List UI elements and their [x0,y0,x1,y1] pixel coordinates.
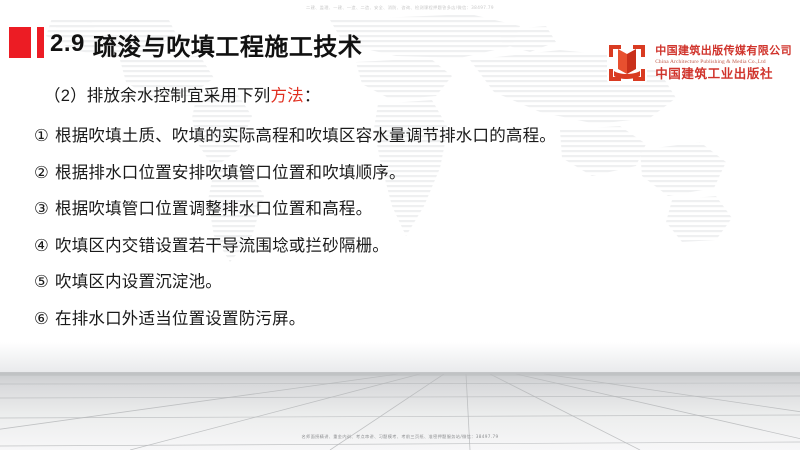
list-item-marker: ⑥ [34,310,49,328]
section-number: 2.9 [50,30,85,58]
list-item-text: 根据排水口位置安排吹填管口位置和吹填顺序。 [55,164,406,182]
list-item: ②根据排水口位置安排吹填管口位置和吹填顺序。 [34,155,774,192]
list-item-marker: ⑤ [34,273,49,291]
publisher-company-en: China Architecture Publishing & Media Co… [655,58,792,66]
open-book-building-icon [606,42,648,84]
lead-paragraph: （2）排放余水控制宜采用下列方法： [44,82,321,106]
title-accent-bars [9,27,44,58]
list-item-marker: ③ [34,200,49,218]
list-item-text: 吹填区内设置沉淀池。 [55,273,222,291]
lead-prefix: （2）排放余水控制宜采用下列 [44,87,270,105]
lead-suffix: ： [304,87,321,105]
bottom-watermark-text: 名师面授精讲、重金内训、考点串讲、习题模考、考前三页纸、准密押题服务站/微信：3… [0,433,800,441]
slide-canvas: 二建、监理、一建、一造、二造、安全、消防、咨询、检测课程押题答多店/微信：384… [0,0,800,450]
publisher-press-cn: 中国建筑工业出版社 [655,66,792,82]
slide-header: 2.9 疏浚与吹填工程施工技术 中国建筑出版传媒有限公司 China Archi [0,22,800,74]
top-watermark-text: 二建、监理、一建、一造、二造、安全、消防、咨询、检测课程押题答多店/微信：384… [0,4,800,12]
list-item-text: 根据吹填管口位置调整排水口位置和高程。 [55,200,372,218]
numbered-item-list: ①根据吹填土质、吹填的实际高程和吹填区容水量调节排水口的高程。 ②根据排水口位置… [34,118,774,337]
slide-body: （2）排放余水控制宜采用下列方法： ①根据吹填土质、吹填的实际高程和吹填区容水量… [0,82,800,342]
list-item-marker: ① [34,127,49,145]
accent-bar-wide [9,27,31,58]
list-item-marker: ④ [34,237,49,255]
section-title-text: 疏浚与吹填工程施工技术 [93,27,363,62]
publisher-company-cn: 中国建筑出版传媒有限公司 [655,45,792,58]
list-item: ⑤吹填区内设置沉淀池。 [34,264,774,301]
accent-bar-narrow [37,27,44,58]
list-item: ①根据吹填土质、吹填的实际高程和吹填区容水量调节排水口的高程。 [34,118,774,155]
publisher-logo-text: 中国建筑出版传媒有限公司 China Architecture Publishi… [655,45,792,82]
list-item: ③根据吹填管口位置调整排水口位置和高程。 [34,191,774,228]
list-item: ④吹填区内交错设置若干导流围埝或拦砂隔栅。 [34,228,774,265]
wall-gradient [0,342,800,372]
list-item-text: 根据吹填土质、吹填的实际高程和吹填区容水量调节排水口的高程。 [55,127,556,145]
list-item: ⑥在排水口外适当位置设置防污屏。 [34,301,774,338]
lead-highlight: 方法 [270,87,303,105]
publisher-logo: 中国建筑出版传媒有限公司 China Architecture Publishi… [606,42,792,84]
list-item-text: 在排水口外适当位置设置防污屏。 [55,310,306,328]
page-title: 2.9 疏浚与吹填工程施工技术 [50,22,362,66]
list-item-text: 吹填区内交错设置若干导流围埝或拦砂隔栅。 [55,237,389,255]
list-item-marker: ② [34,164,49,182]
